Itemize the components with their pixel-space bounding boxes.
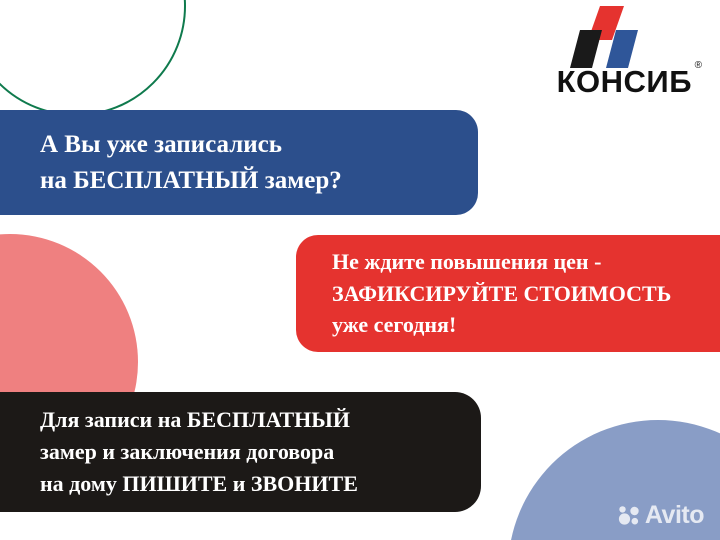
banner-blue-line-1: А Вы уже записались [40,127,478,163]
brand-wordmark: КОНСИБ [557,66,692,97]
banner-black-line-2: замер и заключения договора [40,436,481,468]
banner-blue-line-2: на БЕСПЛАТНЫЙ замер? [40,163,478,199]
banner-red-line-3: уже сегодня! [332,309,720,341]
konsib-logo-mark-icon [568,6,640,68]
avito-dots-icon [618,506,640,526]
avito-watermark: Avito [618,503,704,528]
registered-trademark-icon: ® [695,61,702,71]
banner-contact-instructions: Для записи на БЕСПЛАТНЫЙ замер и заключе… [0,392,481,512]
banner-black-line-1: Для записи на БЕСПЛАТНЫЙ [40,404,481,436]
banner-black-line-3: на дому ПИШИТЕ и ЗВОНИТЕ [40,468,481,500]
green-ring-decoration [0,0,186,116]
banner-red-line-1: Не ждите повышения цен - [332,246,720,278]
banner-free-measurement-question: А Вы уже записались на БЕСПЛАТНЫЙ замер? [0,110,478,215]
brand-logo: КОНСИБ ® [522,6,702,106]
banner-red-line-2: ЗАФИКСИРУЙТЕ СТОИМОСТЬ [332,278,720,310]
promo-poster: КОНСИБ ® А Вы уже записались на БЕСПЛАТН… [0,0,720,540]
avito-wordmark: Avito [645,503,704,528]
banner-fix-price-offer: Не ждите повышения цен - ЗАФИКСИРУЙТЕ СТ… [296,235,720,352]
